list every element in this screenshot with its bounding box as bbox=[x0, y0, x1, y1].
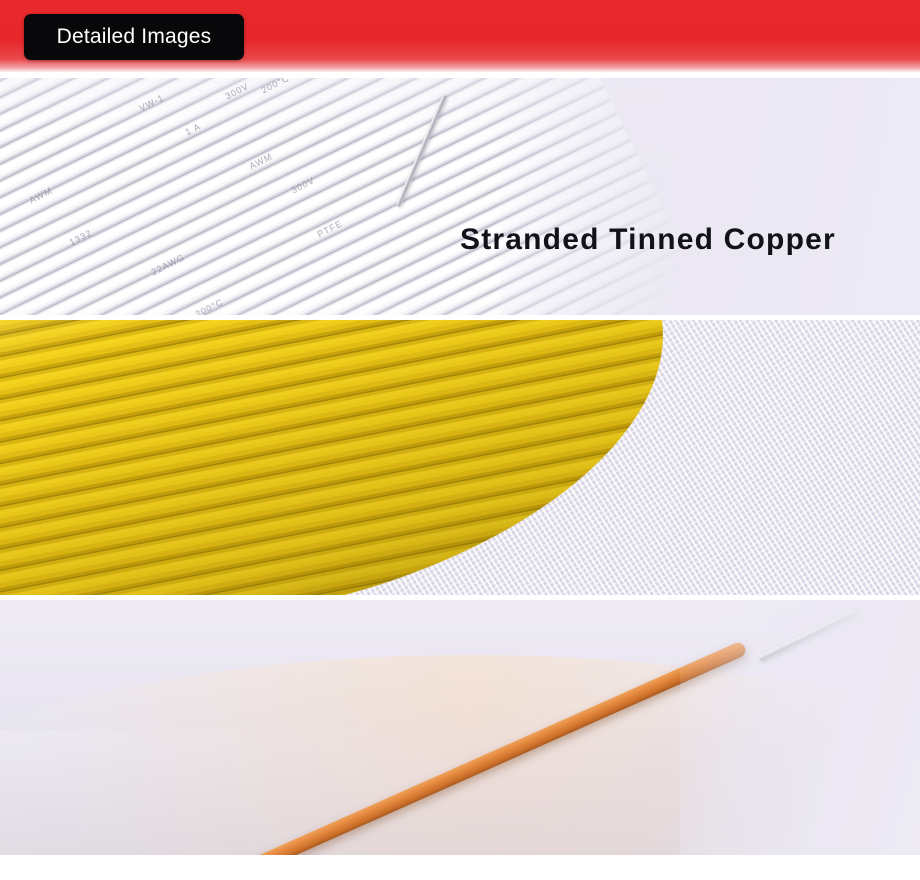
panel3-backdrop-fade bbox=[680, 600, 920, 855]
panel-temperature-resistance: Temperature Resistance Up To 250 ° C bbox=[0, 600, 920, 855]
panel1-backdrop-fade bbox=[500, 78, 920, 315]
detailed-images-banner: Detailed Images bbox=[0, 0, 920, 72]
panel-teflon-insulation-material: Teflon Insulation Material bbox=[0, 320, 920, 595]
caption-stranded-tinned-copper: Stranded Tinned Copper bbox=[460, 222, 836, 257]
detail-images-page: Detailed Images AWM 1332 22AWG 200°C VW-… bbox=[0, 0, 920, 880]
detailed-images-label: Detailed Images bbox=[57, 25, 212, 49]
panel-stranded-tinned-copper: AWM 1332 22AWG 200°C VW-1 1 A 300V AWM 3… bbox=[0, 78, 920, 315]
detailed-images-tag: Detailed Images bbox=[24, 14, 244, 60]
